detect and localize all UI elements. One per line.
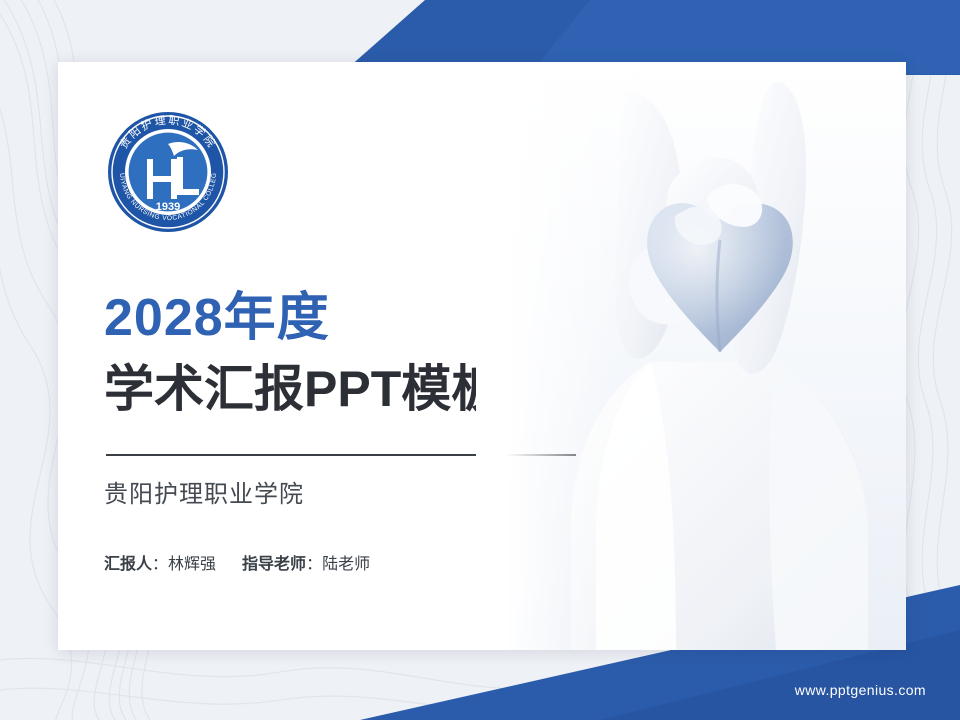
presenter-label: 汇报人 [104, 556, 152, 573]
school-name: 贵阳护理职业学院 [104, 474, 304, 509]
nurse-holding-heart-photo [476, 62, 906, 650]
college-seal-icon: 1939 贵阳护理职业学院 GUIYANG NURSING VOCATIONAL… [106, 110, 230, 234]
presenter-separator: ： [152, 556, 168, 573]
college-logo: 1939 贵阳护理职业学院 GUIYANG NURSING VOCATIONAL… [106, 110, 230, 234]
title-year: 2028年度 [104, 290, 330, 346]
slide-content-card: 1939 贵阳护理职业学院 GUIYANG NURSING VOCATIONAL… [58, 62, 906, 650]
advisor-label: 指导老师 [242, 556, 306, 573]
footer-website-url: www.pptgenius.com [795, 682, 926, 698]
presenter-name: 林辉强 [168, 556, 216, 573]
advisor-separator: ： [306, 556, 322, 573]
presentation-slide: 1939 贵阳护理职业学院 GUIYANG NURSING VOCATIONAL… [0, 0, 960, 720]
presentation-credits: 汇报人：林辉强指导老师：陆老师 [104, 550, 370, 574]
advisor-name: 陆老师 [322, 556, 370, 573]
logo-year-text: 1939 [156, 201, 180, 213]
title-main: 学术汇报PPT模板 [104, 362, 501, 417]
photo-left-fade [476, 62, 616, 650]
